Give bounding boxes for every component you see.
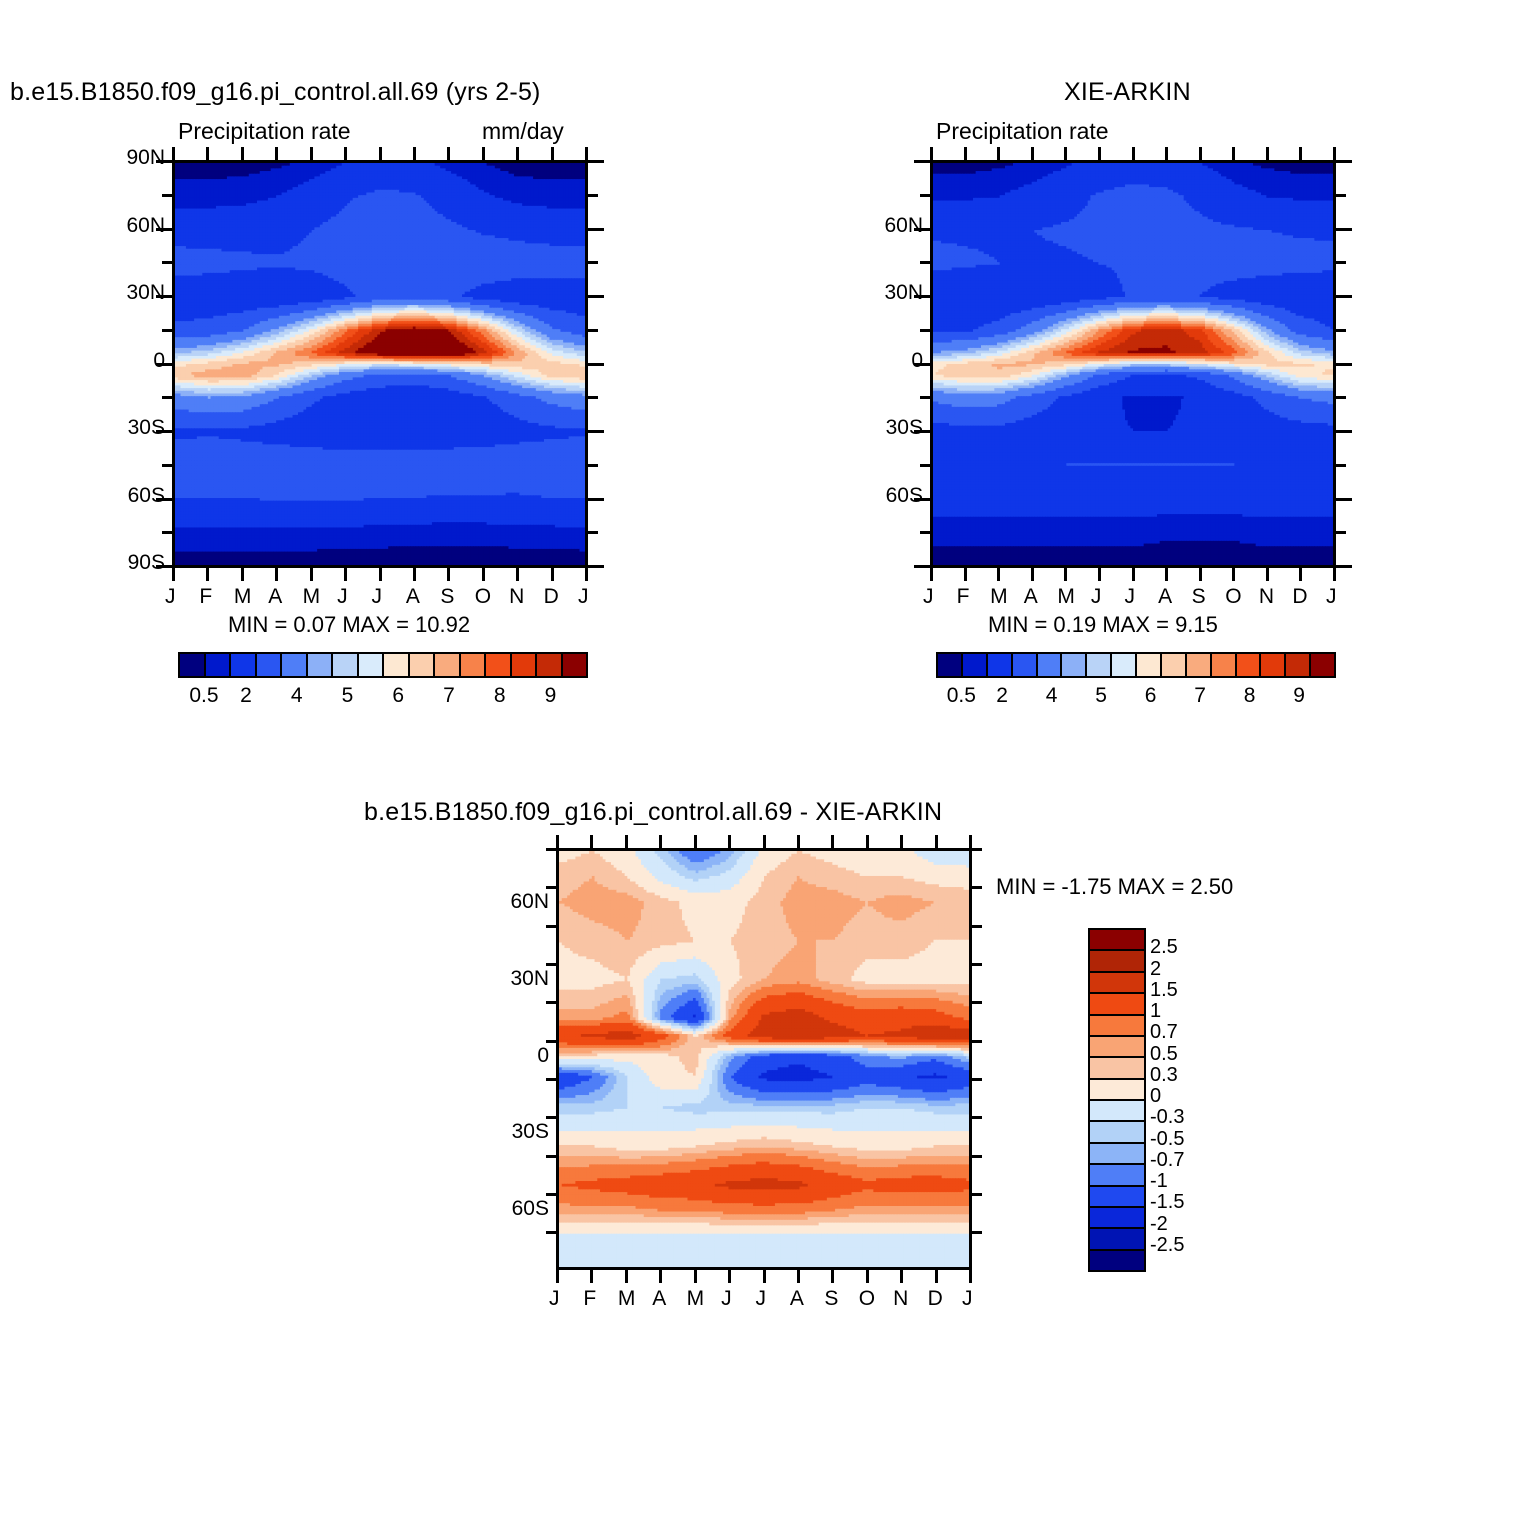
plot-area-obs[interactable]	[930, 160, 1336, 568]
colorbar-swatch	[1062, 654, 1087, 676]
x-axis-tick	[275, 568, 278, 581]
y-axis-label: 30N	[95, 281, 165, 305]
y-axis-tick	[546, 886, 556, 889]
colorbar-tick-label: -0.3	[1150, 1106, 1184, 1129]
colorbar-tick-label: -1	[1150, 1170, 1168, 1193]
y-axis-label: 90N	[95, 146, 165, 170]
colorbar-swatch	[1090, 951, 1144, 972]
x-axis-tick	[447, 147, 450, 160]
x-axis-label: M	[234, 585, 252, 609]
colorbar-swatch	[512, 654, 538, 676]
colorbar-swatch	[206, 654, 232, 676]
y-axis-tick	[546, 848, 556, 851]
colorbar-difference[interactable]	[1088, 928, 1146, 1272]
colorbar-swatch	[384, 654, 410, 676]
x-axis-tick	[969, 1270, 972, 1283]
x-axis-label: J	[923, 585, 934, 609]
y-axis-tick	[972, 1231, 982, 1234]
contour-field	[559, 851, 969, 1267]
x-axis-tick	[1165, 147, 1168, 160]
y-axis-tick	[546, 925, 556, 928]
y-axis-label: 60N	[479, 890, 549, 914]
y-axis-tick	[1336, 565, 1352, 568]
colorbar-tick-label: 4	[291, 684, 303, 708]
colorbar-tick-label: 9	[1293, 684, 1305, 708]
colorbar-swatch	[1311, 654, 1334, 676]
x-axis-label: A	[652, 1287, 666, 1311]
colorbar-swatch	[1013, 654, 1038, 676]
colorbar-swatch	[537, 654, 563, 676]
y-axis-label: 30S	[853, 416, 923, 440]
panel-model-title: b.e15.B1850.f09_g16.pi_control.all.69 (y…	[10, 78, 541, 107]
x-axis-tick	[763, 1270, 766, 1283]
y-axis-tick	[588, 464, 598, 467]
x-axis-tick	[172, 568, 175, 581]
colorbar-swatch	[1090, 1165, 1144, 1186]
y-axis-label: 60S	[479, 1197, 549, 1221]
x-axis-tick	[310, 568, 313, 581]
x-axis-label: F	[199, 585, 212, 609]
y-axis-tick	[588, 396, 598, 399]
y-axis-tick	[972, 1040, 982, 1043]
y-axis-tick	[162, 464, 172, 467]
x-axis-label: N	[1259, 585, 1274, 609]
y-axis-tick	[1336, 194, 1346, 197]
x-axis-tick	[1299, 568, 1302, 581]
y-axis-tick	[920, 194, 930, 197]
x-axis-label: J	[372, 585, 383, 609]
colorbar-swatch	[486, 654, 512, 676]
x-axis-tick	[1333, 147, 1336, 160]
x-axis-tick	[447, 568, 450, 581]
x-axis-label: A	[268, 585, 282, 609]
y-axis-tick	[588, 531, 598, 534]
y-axis-tick	[972, 1116, 982, 1119]
colorbar-swatch	[1038, 654, 1063, 676]
colorbar-swatch	[563, 654, 587, 676]
x-axis-label: D	[928, 1287, 943, 1311]
colorbar-swatch	[1237, 654, 1262, 676]
y-axis-tick	[162, 396, 172, 399]
colorbar-tick-label: 5	[1095, 684, 1107, 708]
panel-difference-minmax: MIN = -1.75 MAX = 2.50	[996, 874, 1233, 900]
x-axis-tick	[935, 1270, 938, 1283]
y-axis-tick	[588, 565, 604, 568]
x-axis-label: M	[303, 585, 321, 609]
y-axis-tick	[972, 848, 982, 851]
x-axis-tick	[728, 835, 731, 848]
y-axis-tick	[920, 396, 930, 399]
x-axis-tick	[625, 835, 628, 848]
colorbar-tick-label: 7	[443, 684, 455, 708]
x-axis-label: J	[578, 585, 589, 609]
x-axis-tick	[1299, 147, 1302, 160]
colorbar-tick-label: 1.5	[1150, 979, 1178, 1002]
x-axis-tick	[344, 568, 347, 581]
plot-area-model[interactable]	[172, 160, 588, 568]
x-axis-tick	[964, 568, 967, 581]
y-axis-tick	[972, 1193, 982, 1196]
colorbar-tick-label: 0	[1150, 1085, 1161, 1108]
x-axis-label: O	[1225, 585, 1241, 609]
x-axis-label: S	[1192, 585, 1206, 609]
panel-obs-var-label: Precipitation rate	[936, 118, 1109, 145]
x-axis-label: O	[475, 585, 491, 609]
x-axis-tick	[930, 568, 933, 581]
colorbar-tick-label: 0.5	[189, 684, 218, 708]
colorbar-swatch	[1090, 994, 1144, 1015]
x-axis-tick	[1333, 568, 1336, 581]
colorbar-swatch	[1286, 654, 1311, 676]
colorbar-tick-label: 0.3	[1150, 1064, 1178, 1087]
colorbar-precip-left[interactable]	[178, 652, 588, 678]
x-axis-tick	[969, 835, 972, 848]
x-axis-label: J	[1326, 585, 1337, 609]
contour-field	[933, 163, 1333, 565]
y-axis-label: 30S	[479, 1120, 549, 1144]
x-axis-label: M	[1057, 585, 1075, 609]
y-axis-tick	[972, 925, 982, 928]
x-axis-tick	[831, 835, 834, 848]
x-axis-tick	[1031, 147, 1034, 160]
x-axis-tick	[585, 147, 588, 160]
y-axis-tick	[588, 160, 604, 163]
x-axis-tick	[482, 147, 485, 160]
y-axis-tick	[920, 464, 930, 467]
x-axis-label: N	[509, 585, 524, 609]
colorbar-tick-label: 2.5	[1150, 936, 1178, 959]
colorbar-tick-label: -0.5	[1150, 1128, 1184, 1151]
colorbar-swatch	[1090, 1058, 1144, 1079]
y-axis-tick	[1336, 228, 1352, 231]
y-axis-label: 0	[853, 349, 923, 373]
colorbar-swatch	[359, 654, 385, 676]
colorbar-swatch	[1090, 1080, 1144, 1101]
colorbar-swatch	[1090, 1187, 1144, 1208]
x-axis-label: J	[962, 1287, 973, 1311]
y-axis-tick	[162, 261, 172, 264]
x-axis-label: A	[1158, 585, 1172, 609]
y-axis-label: 30N	[479, 967, 549, 991]
colorbar-swatch	[1187, 654, 1212, 676]
y-axis-label: 60S	[95, 484, 165, 508]
x-axis-tick	[310, 147, 313, 160]
y-axis-tick	[1336, 464, 1346, 467]
colorbar-swatch	[1090, 973, 1144, 994]
y-axis-tick	[546, 1116, 556, 1119]
colorbar-swatch	[231, 654, 257, 676]
x-axis-label: O	[859, 1287, 875, 1311]
colorbar-tick-label: 0.5	[947, 684, 976, 708]
y-axis-tick	[546, 1155, 556, 1158]
colorbar-tick-label: 2	[240, 684, 252, 708]
x-axis-tick	[275, 147, 278, 160]
x-axis-tick	[1266, 147, 1269, 160]
x-axis-tick	[797, 835, 800, 848]
x-axis-tick	[516, 147, 519, 160]
x-axis-tick	[585, 568, 588, 581]
y-axis-tick	[546, 1193, 556, 1196]
x-axis-tick	[728, 1270, 731, 1283]
colorbar-swatch	[410, 654, 436, 676]
x-axis-label: J	[721, 1287, 732, 1311]
x-axis-label: A	[406, 585, 420, 609]
x-axis-tick	[590, 1270, 593, 1283]
x-axis-tick	[1199, 568, 1202, 581]
y-axis-tick	[1336, 531, 1346, 534]
x-axis-tick	[866, 1270, 869, 1283]
x-axis-tick	[1031, 568, 1034, 581]
x-axis-label: J	[756, 1287, 767, 1311]
y-axis-tick	[162, 194, 172, 197]
contour-field	[175, 163, 585, 565]
x-axis-tick	[344, 147, 347, 160]
colorbar-swatch	[963, 654, 988, 676]
x-axis-label: A	[1024, 585, 1038, 609]
x-axis-tick	[379, 568, 382, 581]
x-axis-tick	[831, 1270, 834, 1283]
colorbar-swatch	[308, 654, 334, 676]
colorbar-tick-label: 2	[996, 684, 1008, 708]
x-axis-tick	[694, 835, 697, 848]
y-axis-tick	[546, 1231, 556, 1234]
colorbar-tick-label: -2.5	[1150, 1234, 1184, 1257]
x-axis-tick	[1232, 147, 1235, 160]
y-axis-tick	[1336, 430, 1352, 433]
x-axis-tick	[556, 1270, 559, 1283]
colorbar-swatch	[1090, 1251, 1144, 1270]
colorbar-swatch	[1162, 654, 1187, 676]
colorbar-tick-label: 7	[1194, 684, 1206, 708]
colorbar-tick-label: 2	[1150, 958, 1161, 981]
colorbar-swatch	[938, 654, 963, 676]
colorbar-swatch	[461, 654, 487, 676]
y-axis-tick	[588, 430, 604, 433]
x-axis-tick	[590, 835, 593, 848]
colorbar-swatch	[1090, 1016, 1144, 1037]
x-axis-label: M	[990, 585, 1008, 609]
colorbar-swatch	[180, 654, 206, 676]
y-axis-tick	[546, 1001, 556, 1004]
y-axis-tick	[588, 194, 598, 197]
x-axis-tick	[1199, 147, 1202, 160]
x-axis-label: J	[1125, 585, 1136, 609]
x-axis-tick	[900, 835, 903, 848]
x-axis-tick	[1064, 568, 1067, 581]
colorbar-tick-label: 4	[1046, 684, 1058, 708]
x-axis-tick	[241, 147, 244, 160]
x-axis-tick	[997, 147, 1000, 160]
x-axis-tick	[935, 835, 938, 848]
colorbar-tick-label: 8	[494, 684, 506, 708]
y-axis-label: 0	[479, 1044, 549, 1068]
y-axis-tick	[914, 160, 930, 163]
y-axis-tick	[1336, 261, 1346, 264]
x-axis-tick	[694, 1270, 697, 1283]
x-axis-tick	[900, 1270, 903, 1283]
y-axis-tick	[588, 329, 598, 332]
colorbar-swatch	[333, 654, 359, 676]
y-axis-tick	[920, 329, 930, 332]
x-axis-tick	[997, 568, 1000, 581]
colorbar-tick-label: 0.5	[1150, 1043, 1178, 1066]
colorbar-swatch	[988, 654, 1013, 676]
x-axis-label: D	[544, 585, 559, 609]
colorbar-tick-label: 0.7	[1150, 1021, 1178, 1044]
colorbar-swatch	[1112, 654, 1137, 676]
y-axis-tick	[588, 363, 604, 366]
colorbar-tick-label: -1.5	[1150, 1191, 1184, 1214]
y-axis-tick	[546, 963, 556, 966]
colorbar-swatch	[257, 654, 283, 676]
x-axis-tick	[1098, 147, 1101, 160]
y-axis-label: 30N	[853, 281, 923, 305]
x-axis-label: S	[824, 1287, 838, 1311]
y-axis-tick	[1336, 363, 1352, 366]
y-axis-tick	[1336, 295, 1352, 298]
y-axis-tick	[920, 261, 930, 264]
x-axis-tick	[763, 835, 766, 848]
panel-difference-title: b.e15.B1850.f09_g16.pi_control.all.69 - …	[364, 798, 942, 827]
panel-model-units: mm/day	[482, 118, 564, 145]
x-axis-tick	[482, 568, 485, 581]
y-axis-tick	[914, 565, 930, 568]
y-axis-tick	[546, 1078, 556, 1081]
y-axis-tick	[1336, 396, 1346, 399]
x-axis-tick	[379, 147, 382, 160]
colorbar-tick-label: -2	[1150, 1213, 1168, 1236]
x-axis-label: J	[337, 585, 348, 609]
x-axis-tick	[206, 568, 209, 581]
colorbar-tick-label: 5	[342, 684, 354, 708]
y-axis-tick	[1336, 498, 1352, 501]
x-axis-tick	[551, 147, 554, 160]
x-axis-tick	[625, 1270, 628, 1283]
x-axis-label: D	[1292, 585, 1307, 609]
x-axis-tick	[413, 147, 416, 160]
x-axis-tick	[516, 568, 519, 581]
x-axis-tick	[964, 147, 967, 160]
y-axis-label: 90S	[95, 551, 165, 575]
x-axis-tick	[1165, 568, 1168, 581]
colorbar-swatch	[1090, 1229, 1144, 1250]
colorbar-swatch	[1090, 1122, 1144, 1143]
colorbar-swatch	[1090, 1101, 1144, 1122]
y-axis-tick	[588, 295, 604, 298]
colorbar-swatch	[1090, 1037, 1144, 1058]
y-axis-tick	[972, 1155, 982, 1158]
x-axis-tick	[1232, 568, 1235, 581]
x-axis-tick	[206, 147, 209, 160]
colorbar-swatch	[1090, 1144, 1144, 1165]
y-axis-tick	[588, 498, 604, 501]
panel-obs-minmax: MIN = 0.19 MAX = 9.15	[988, 612, 1218, 638]
x-axis-label: J	[1091, 585, 1102, 609]
y-axis-tick	[972, 963, 982, 966]
y-axis-label: 60S	[853, 484, 923, 508]
colorbar-tick-label: 6	[392, 684, 404, 708]
panel-model-var-label: Precipitation rate	[178, 118, 351, 145]
y-axis-label: 60N	[853, 214, 923, 238]
x-axis-tick	[659, 835, 662, 848]
y-axis-tick	[1336, 329, 1346, 332]
x-axis-label: S	[440, 585, 454, 609]
x-axis-tick	[241, 568, 244, 581]
x-axis-label: F	[583, 1287, 596, 1311]
colorbar-swatch	[282, 654, 308, 676]
x-axis-tick	[1132, 568, 1135, 581]
colorbar-swatch	[435, 654, 461, 676]
x-axis-tick	[172, 147, 175, 160]
y-axis-label: 0	[95, 349, 165, 373]
colorbar-tick-label: 6	[1145, 684, 1157, 708]
colorbar-swatch	[1090, 930, 1144, 951]
x-axis-tick	[1098, 568, 1101, 581]
colorbar-swatch	[1137, 654, 1162, 676]
y-axis-label: 30S	[95, 416, 165, 440]
y-axis-label: 60N	[95, 214, 165, 238]
y-axis-tick	[972, 1001, 982, 1004]
y-axis-tick	[972, 1078, 982, 1081]
colorbar-swatch	[1212, 654, 1237, 676]
x-axis-tick	[413, 568, 416, 581]
x-axis-tick	[556, 835, 559, 848]
colorbar-swatch	[1090, 1208, 1144, 1229]
x-axis-tick	[797, 1270, 800, 1283]
colorbar-precip-right[interactable]	[936, 652, 1336, 678]
x-axis-label: A	[790, 1287, 804, 1311]
x-axis-tick	[1132, 147, 1135, 160]
colorbar-tick-label: 9	[545, 684, 557, 708]
x-axis-tick	[551, 568, 554, 581]
y-axis-tick	[972, 886, 982, 889]
y-axis-tick	[588, 228, 604, 231]
panel-obs-title: XIE-ARKIN	[1064, 78, 1191, 107]
colorbar-swatch	[1261, 654, 1286, 676]
x-axis-label: J	[549, 1287, 560, 1311]
x-axis-tick	[930, 147, 933, 160]
panel-model-minmax: MIN = 0.07 MAX = 10.92	[228, 612, 470, 638]
x-axis-tick	[1064, 147, 1067, 160]
x-axis-label: M	[618, 1287, 636, 1311]
x-axis-tick	[659, 1270, 662, 1283]
colorbar-tick-label: 8	[1244, 684, 1256, 708]
x-axis-tick	[866, 835, 869, 848]
x-axis-label: N	[893, 1287, 908, 1311]
colorbar-tick-label: -0.7	[1150, 1149, 1184, 1172]
y-axis-tick	[162, 329, 172, 332]
colorbar-tick-label: 1	[1150, 1000, 1161, 1023]
x-axis-label: J	[165, 585, 176, 609]
y-axis-tick	[162, 531, 172, 534]
y-axis-tick	[588, 261, 598, 264]
y-axis-tick	[920, 531, 930, 534]
y-axis-tick	[1336, 160, 1352, 163]
plot-area-difference[interactable]	[556, 848, 972, 1270]
colorbar-swatch	[1087, 654, 1112, 676]
x-axis-label: F	[957, 585, 970, 609]
x-axis-label: M	[687, 1287, 705, 1311]
x-axis-tick	[1266, 568, 1269, 581]
y-axis-tick	[546, 1040, 556, 1043]
